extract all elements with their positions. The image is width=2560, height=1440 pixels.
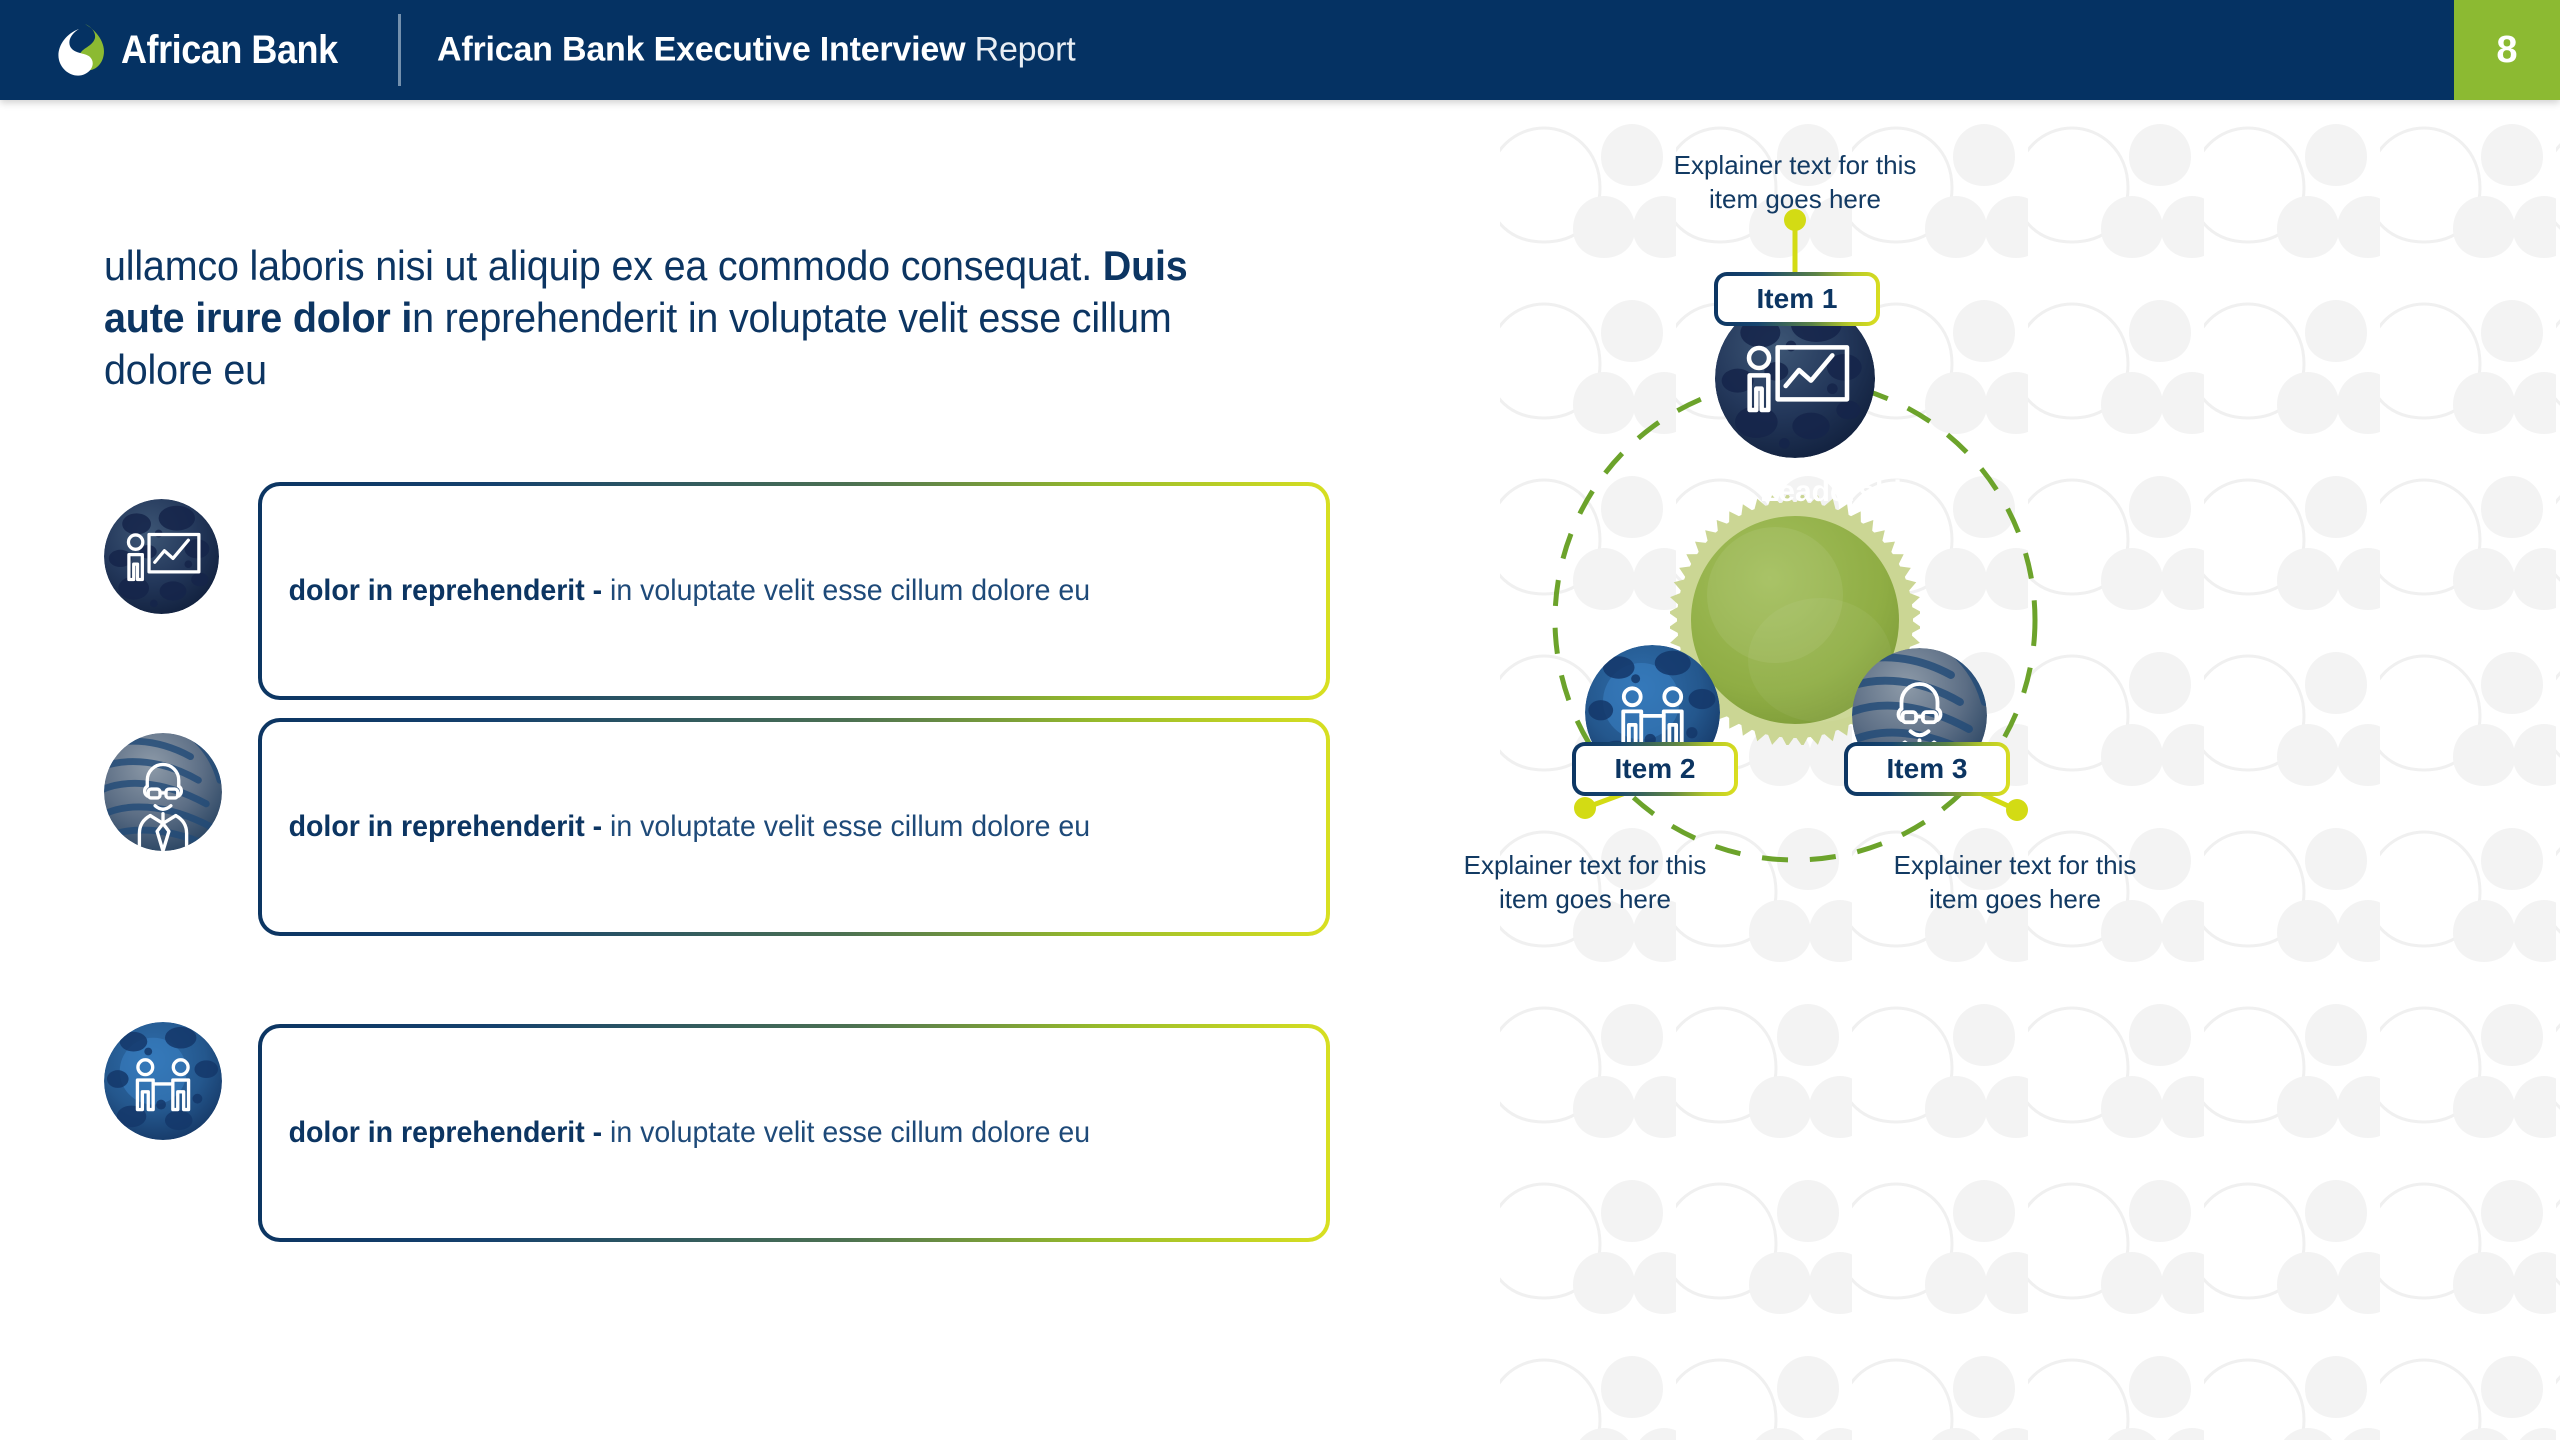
african-bank-droplet-logo-icon: [55, 22, 107, 78]
page-number-badge: 8: [2454, 0, 2560, 100]
feature-card-1-lead: dolor in reprehenderit -: [289, 574, 610, 607]
feature-card-2[interactable]: dolor in reprehenderit - in voluptate ve…: [258, 718, 1330, 936]
feature-card-3-lead: dolor in reprehenderit -: [289, 1116, 610, 1149]
businessperson-glasses-icon: [104, 733, 222, 851]
feature-card-3[interactable]: dolor in reprehenderit - in voluptate ve…: [258, 1024, 1330, 1242]
header-title: African Bank Executive Interview Report: [437, 31, 1075, 70]
person-presenting-chart-icon: [104, 499, 219, 614]
diagram-node-3-label[interactable]: Item 3: [1844, 742, 2010, 796]
page-headline: ullamco laboris nisi ut aliquip ex ea co…: [104, 240, 1251, 396]
two-people-icon: [104, 1022, 222, 1140]
header-bar: African Bank African Bank Executive Inte…: [0, 0, 2560, 100]
diagram-node-1-explainer: Explainer text for this item goes here: [1670, 148, 1920, 217]
diagram-node-2-explainer: Explainer text for this item goes here: [1460, 848, 1710, 917]
feature-card-2-body: in voluptate velit esse cillum dolore eu: [610, 810, 1090, 843]
feature-card-1[interactable]: dolor in reprehenderit - in voluptate ve…: [258, 482, 1330, 700]
feature-card-2-text: dolor in reprehenderit - in voluptate ve…: [262, 807, 1273, 847]
diagram-node-1-label[interactable]: Item 1: [1714, 272, 1880, 326]
feature-card-1-body: in voluptate velit esse cillum dolore eu: [610, 574, 1090, 607]
header-divider: [398, 14, 401, 86]
diagram-node-3-explainer: Explainer text for this item goes here: [1890, 848, 2140, 917]
feature-card-1-text: dolor in reprehenderit - in voluptate ve…: [262, 571, 1273, 611]
brand-logo[interactable]: African Bank: [55, 14, 362, 86]
header-title-strong: African Bank Executive Interview: [437, 31, 965, 69]
feature-card-3-body: in voluptate velit esse cillum dolore eu: [610, 1116, 1090, 1149]
feature-card-3-text: dolor in reprehenderit - in voluptate ve…: [262, 1113, 1273, 1153]
slide-canvas: African Bank African Bank Executive Inte…: [0, 0, 2560, 1440]
feature-card-2-lead: dolor in reprehenderit -: [289, 810, 610, 843]
leadership-triad-diagram: Leadership: [1380, 120, 2560, 1280]
header-title-light: Report: [965, 31, 1075, 69]
headline-part1: ullamco laboris nisi ut aliquip ex ea co…: [104, 242, 1103, 289]
brand-logo-text: African Bank: [121, 28, 338, 73]
diagram-node-2-label[interactable]: Item 2: [1572, 742, 1738, 796]
